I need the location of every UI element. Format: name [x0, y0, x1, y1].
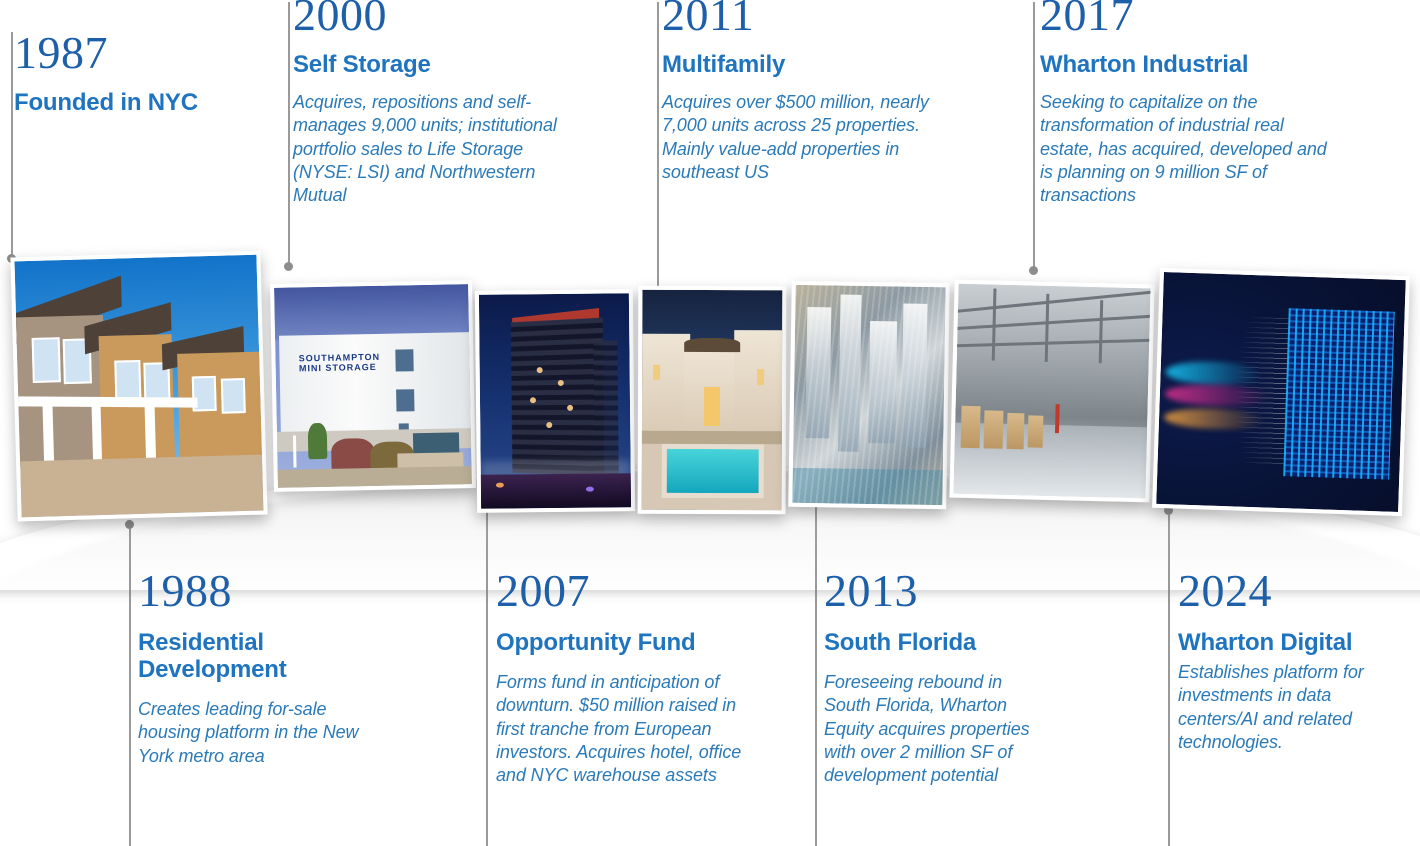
- timeline-entry-2017: 2017 Wharton Industrial Seeking to capit…: [1040, 0, 1340, 208]
- timeline-entry-1987: 1987 Founded in NYC: [14, 30, 264, 117]
- entry-year: 1988: [138, 568, 388, 614]
- timeline-entry-2000: 2000 Self Storage Acquires, repositions …: [293, 0, 583, 208]
- data-center-ai-visualization-photo: [1152, 268, 1410, 516]
- residential-construction-photo: [10, 251, 267, 522]
- entry-year: 1987: [14, 30, 264, 76]
- timeline-entry-2007: 2007 Opportunity Fund Forms fund in anti…: [496, 568, 766, 788]
- entry-year: 2013: [824, 568, 1064, 614]
- timeline-entry-2013: 2013 South Florida Foreseeing rebound in…: [824, 568, 1064, 788]
- aerial-city-skyline-photo: [788, 281, 950, 509]
- connector-line-2011: [657, 2, 659, 290]
- entry-heading: Opportunity Fund: [496, 630, 766, 657]
- timeline-entry-2011: 2011 Multifamily Acquires over $500 mill…: [662, 0, 962, 184]
- entry-body: Seeking to capitalize on the transformat…: [1040, 91, 1330, 208]
- entry-heading: Founded in NYC: [14, 90, 264, 117]
- timeline-infographic: SOUTHAMPTONMINI STORAGE: [0, 0, 1420, 846]
- entry-body: Foreseeing rebound in South Florida, Wha…: [824, 671, 1049, 788]
- entry-year: 2017: [1040, 0, 1340, 38]
- entry-year: 2024: [1178, 568, 1408, 614]
- connector-line-1987: [11, 32, 13, 258]
- entry-heading: Residential Development: [138, 630, 338, 684]
- connector-line-2017: [1033, 2, 1035, 270]
- multifamily-pool-courtyard-photo: [638, 286, 787, 515]
- entry-body: Acquires over $500 million, nearly 7,000…: [662, 91, 947, 185]
- timeline-entry-2024: 2024 Wharton Digital Establishes platfor…: [1178, 568, 1408, 754]
- entry-heading: Wharton Industrial: [1040, 52, 1340, 79]
- entry-heading: South Florida: [824, 630, 1064, 657]
- entry-heading: Wharton Digital: [1178, 630, 1408, 657]
- photo-strip: SOUTHAMPTONMINI STORAGE: [0, 250, 1420, 540]
- entry-body: Acquires, repositions and self-manages 9…: [293, 91, 563, 208]
- office-tower-dusk-photo: [475, 289, 635, 513]
- entry-year: 2007: [496, 568, 766, 614]
- entry-body: Creates leading for-sale housing platfor…: [138, 698, 378, 768]
- entry-body: Establishes platform for investments in …: [1178, 661, 1403, 755]
- entry-body: Forms fund in anticipation of downturn. …: [496, 671, 758, 788]
- entry-heading: Multifamily: [662, 52, 962, 79]
- entry-year: 2011: [662, 0, 962, 38]
- connector-line-2000: [288, 2, 290, 266]
- storage-sign-text: SOUTHAMPTONMINI STORAGE: [299, 352, 381, 374]
- entry-year: 2000: [293, 0, 583, 38]
- self-storage-facility-photo: SOUTHAMPTONMINI STORAGE: [270, 280, 476, 492]
- timeline-entry-1988: 1988 Residential Development Creates lea…: [138, 568, 388, 768]
- warehouse-interior-photo: [949, 280, 1154, 503]
- entry-heading: Self Storage: [293, 52, 583, 79]
